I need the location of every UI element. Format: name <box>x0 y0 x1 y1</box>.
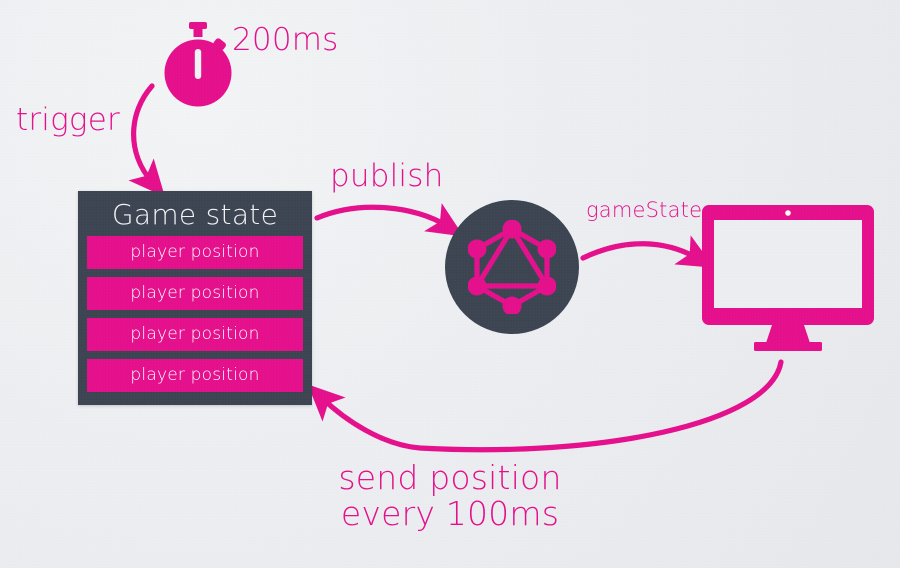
player-position-row: player position <box>87 277 303 310</box>
gamestate-label: gameState <box>586 199 702 222</box>
graphql-server-node <box>445 200 579 334</box>
send-position-label: send position every 100ms <box>0 460 900 531</box>
trigger-label: trigger <box>16 104 120 137</box>
send-position-line2: every 100ms <box>0 496 900 532</box>
player-position-row: player position <box>87 318 303 351</box>
game-state-box: Game state player position player positi… <box>78 191 312 405</box>
trigger-arrow <box>134 86 152 182</box>
game-state-title: Game state <box>87 197 303 233</box>
send-position-line1: send position <box>338 458 561 497</box>
stopwatch-icon <box>160 22 236 108</box>
player-position-row: player position <box>87 236 303 269</box>
publish-arrow <box>317 207 447 226</box>
timer-interval-label: 200ms <box>232 24 339 57</box>
gamestate-arrow <box>583 244 697 258</box>
send-position-arrow <box>322 362 781 450</box>
graphql-logo-icon <box>468 220 556 314</box>
diagram-canvas: 200ms trigger publish gameState send pos… <box>0 0 900 568</box>
publish-label: publish <box>330 160 443 193</box>
monitor-icon <box>700 203 876 351</box>
player-position-row: player position <box>87 359 303 392</box>
